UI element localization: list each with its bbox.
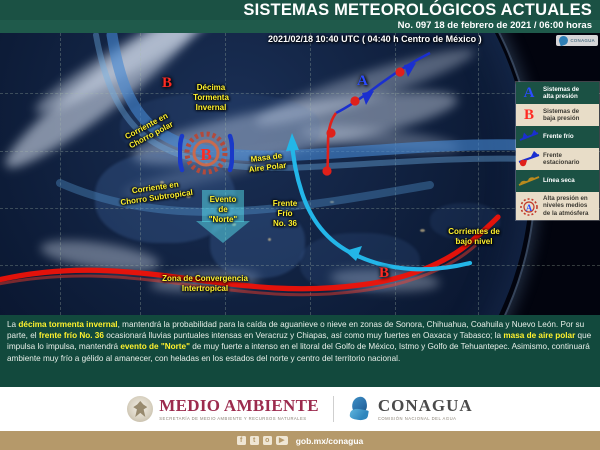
stationary-front-bump xyxy=(322,166,331,175)
conagua-logo: CONAGUA COMISIÓN NACIONAL DEL AGUA xyxy=(348,396,473,422)
legend-item-baja-presion[interactable]: B Sistemas de baja presión xyxy=(516,104,599,126)
low-level-current-arrow-path xyxy=(292,145,470,269)
legend-label-frente-estacionario: Frente estacionario xyxy=(543,152,579,167)
pressure-symbol-low-south: B xyxy=(379,265,389,282)
low-pressure-B-icon: B xyxy=(518,107,540,123)
map-timestamp: 2021/02/18 10:40 UTC ( 04:40 h Centro de… xyxy=(268,34,482,44)
footer-url[interactable]: gob.mx/conagua xyxy=(296,436,364,446)
conagua-water-bird-icon xyxy=(348,396,372,422)
label-frente-frio-36: Frente Frío No. 36 xyxy=(262,199,308,229)
cold-front-barb xyxy=(362,91,374,105)
summary-highlight: frente frío No. 36 xyxy=(39,331,104,340)
map-conagua-watermark: CONAGUA xyxy=(556,35,598,46)
facebook-icon[interactable]: f xyxy=(237,436,246,445)
page-header: SISTEMAS METEOROLÓGICOS ACTUALES No. 097… xyxy=(0,0,600,33)
legend-item-alta-niveles-medios[interactable]: A Alta presión en niveles medios de la a… xyxy=(516,192,599,220)
footer-divider xyxy=(333,396,334,422)
label-zona-convergencia-intertropical: Zona de Convergencia Intertropical xyxy=(140,274,270,294)
cold-front-icon xyxy=(518,129,540,145)
twitter-icon[interactable]: t xyxy=(250,436,259,445)
mid-level-high-icon: A xyxy=(518,198,540,214)
legend-label-alta-presion: Sistemas de alta presión xyxy=(543,86,579,101)
institutional-footer: MEDIO AMBIENTE SECRETARÍA DE MEDIO AMBIE… xyxy=(0,387,600,431)
legend-label-linea-seca: Línea seca xyxy=(543,177,575,184)
stationary-front-line xyxy=(327,113,336,175)
low-level-current-arrowhead xyxy=(286,133,299,151)
stationary-front-bump xyxy=(350,96,359,105)
storm-arc-right xyxy=(230,136,232,170)
winter-storm-low-system: B xyxy=(178,128,234,178)
label-evento-de-norte: Evento de "Norte" xyxy=(197,195,249,225)
pressure-symbol-low-northwest: B xyxy=(162,75,172,92)
weather-bulletin-page: SISTEMAS METEOROLÓGICOS ACTUALES No. 097… xyxy=(0,0,600,450)
fronts-overlay xyxy=(0,33,600,315)
dry-line-icon xyxy=(518,173,540,189)
conagua-title: CONAGUA xyxy=(378,397,473,415)
pressure-symbol-high-north: A xyxy=(357,73,368,90)
conagua-bird-icon xyxy=(558,35,570,47)
legend-label-frente-frio: Frente frío xyxy=(543,133,574,140)
storm-low-symbol: B xyxy=(200,145,211,164)
stationary-front-icon xyxy=(518,151,540,167)
legend-item-linea-seca[interactable]: Línea seca xyxy=(516,170,599,192)
summary-paragraph: La décima tormenta invernal, mantendrá l… xyxy=(7,319,593,364)
cold-front-line xyxy=(336,53,430,113)
summary-text: La xyxy=(7,320,18,329)
legend-label-alta-niveles-medios: Alta presión en niveles medios de la atm… xyxy=(543,195,588,217)
summary-highlight: masa de aire polar xyxy=(503,331,575,340)
map-watermark-label: CONAGUA xyxy=(570,38,595,43)
label-decima-tormenta-invernal: Décima Tormenta Invernal xyxy=(180,83,242,113)
bulletin-issue-line: No. 097 18 de febrero de 2021 / 06:00 ho… xyxy=(398,20,592,31)
svg-text:A: A xyxy=(526,203,533,213)
mexico-eagle-seal-icon xyxy=(127,396,153,422)
semarnat-title: MEDIO AMBIENTE xyxy=(159,397,319,415)
page-title: SISTEMAS METEOROLÓGICOS ACTUALES xyxy=(243,1,592,20)
satellite-weather-map[interactable]: B B A B Décima Tormenta Invernal Corrien… xyxy=(0,33,600,315)
summary-highlight: evento de "Norte" xyxy=(120,342,190,351)
semarnat-logo: MEDIO AMBIENTE SECRETARÍA DE MEDIO AMBIE… xyxy=(127,396,319,422)
cold-front-barb xyxy=(404,63,416,77)
high-pressure-A-icon: A xyxy=(518,85,540,101)
legend-item-alta-presion[interactable]: A Sistemas de alta presión xyxy=(516,82,599,104)
legend-item-frente-frio[interactable]: Frente frío xyxy=(516,126,599,148)
legend-label-baja-presion: Sistemas de baja presión xyxy=(543,108,579,123)
storm-arc-left xyxy=(180,136,182,170)
label-corrientes-bajo-nivel: Corrientes de bajo nivel xyxy=(437,227,511,247)
summary-text: ocasionará lluvias puntuales intensas en… xyxy=(104,331,503,340)
footer-social-bar: f t o ▶ gob.mx/conagua xyxy=(0,431,600,450)
summary-text-panel: La décima tormenta invernal, mantendrá l… xyxy=(0,315,600,387)
semarnat-subtitle: SECRETARÍA DE MEDIO AMBIENTE Y RECURSOS … xyxy=(159,416,319,421)
legend-item-frente-estacionario[interactable]: Frente estacionario xyxy=(516,148,599,170)
conagua-subtitle: COMISIÓN NACIONAL DEL AGUA xyxy=(378,416,473,421)
youtube-icon[interactable]: ▶ xyxy=(276,436,288,445)
summary-highlight: décima tormenta invernal xyxy=(18,320,117,329)
map-legend: A Sistemas de alta presión B Sistemas de… xyxy=(515,81,600,221)
instagram-icon[interactable]: o xyxy=(263,436,272,445)
stationary-front-bump xyxy=(395,67,404,76)
stationary-front-bump xyxy=(326,128,335,137)
